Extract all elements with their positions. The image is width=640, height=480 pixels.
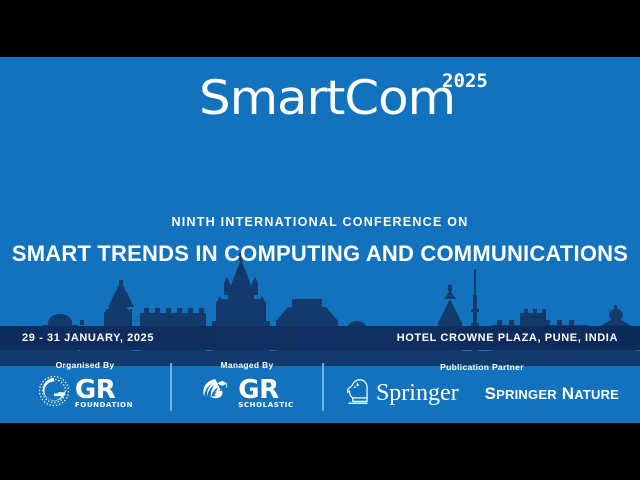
sn-pringer: PRINGER [496,387,557,402]
springer-nature-wordmark: SPRINGER NATURE [485,384,619,404]
conference-logo: SmartCom 2025 [0,75,640,122]
conference-title: SMART TRENDS IN COMPUTING AND COMMUNICAT… [0,241,640,267]
sn-s: S [485,384,497,403]
gr-foundation-name: GR [75,378,133,403]
gr-scholastic-emblem-icon [200,374,234,413]
gr-scholastic-subname: SCHOLASTIC [238,402,293,409]
partners-footer: Organised By [0,350,640,423]
publication-partner-block: Publication Partner [324,350,640,423]
sn-n: N [562,384,574,403]
logo-year: 2025 [442,72,488,91]
gr-foundation-emblem-icon [37,374,71,413]
organiser-caption: Organised By [56,360,115,370]
manager-caption: Managed By [220,360,273,370]
publication-partner-caption: Publication Partner [440,362,524,372]
springer-knight-icon [345,376,371,411]
conference-poster: SmartCom 2025 NINTH INTERNATIONAL CONFER… [0,57,640,423]
gr-foundation-subname: FOUNDATION [75,402,133,409]
event-venue: HOTEL CROWNE PLAZA, PUNE, INDIA [397,332,618,344]
springer-wordmark: Springer [376,380,459,407]
event-info-bar: 29 - 31 JANUARY, 2025 HOTEL CROWNE PLAZA… [0,326,640,350]
logo-wordmark: SmartCom [199,75,455,122]
manager-block: Managed By [172,350,322,423]
letterbox-bar-bottom [0,423,640,480]
sn-ature: ATURE [574,387,619,402]
poster-stage: SmartCom 2025 NINTH INTERNATIONAL CONFER… [0,0,640,480]
conference-subtitle: NINTH INTERNATIONAL CONFERENCE ON [0,215,640,229]
letterbox-bar-top [0,0,640,57]
event-dates: 29 - 31 JANUARY, 2025 [22,332,154,344]
organiser-block: Organised By [0,350,170,423]
gr-scholastic-name: GR [238,378,293,403]
